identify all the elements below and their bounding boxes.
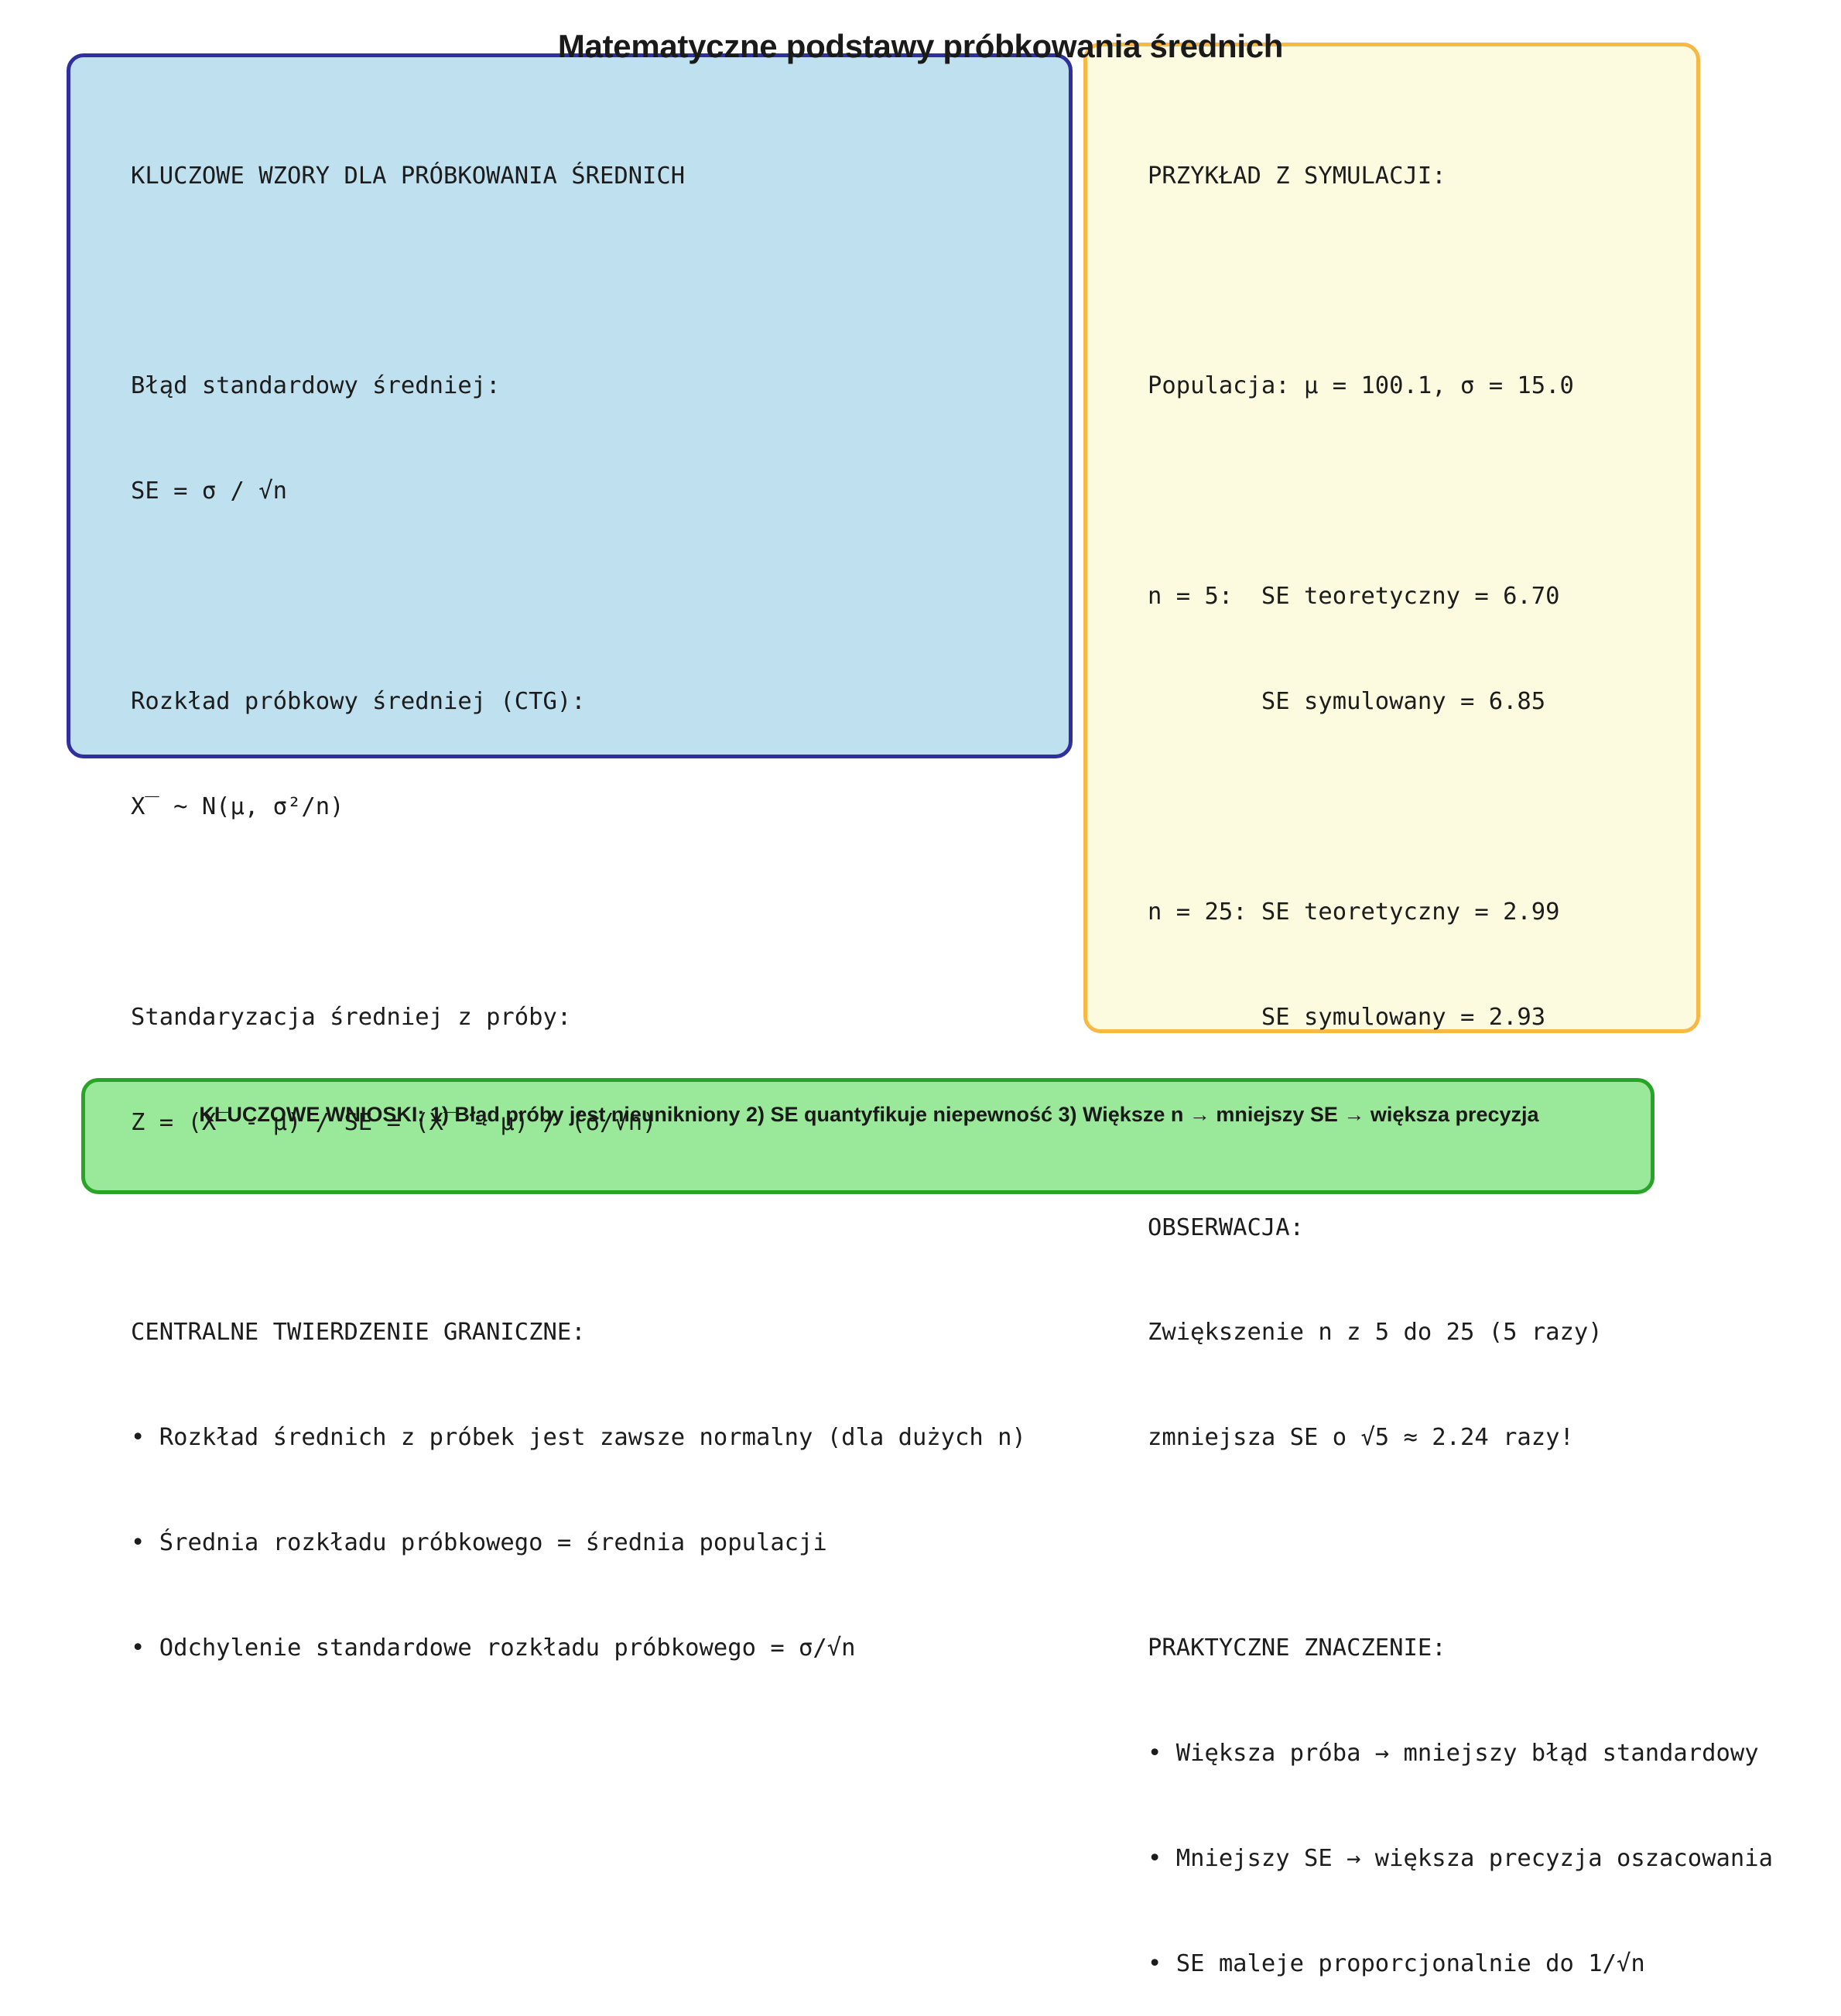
- left-line-10: [131, 1210, 1026, 1245]
- left-line-12: • Rozkład średnich z próbek jest zawsze …: [131, 1420, 1026, 1455]
- right-line-2: Populacja: μ = 100.1, σ = 15.0: [1148, 368, 1773, 403]
- right-line-14: PRAKTYCZNE ZNACZENIE:: [1148, 1631, 1773, 1665]
- left-line-8: Standaryzacja średniej z próby:: [131, 1000, 1026, 1035]
- right-line-7: n = 25: SE teoretyczny = 2.99: [1148, 895, 1773, 929]
- right-line-8: SE symulowany = 2.93: [1148, 1000, 1773, 1035]
- left-line-14: • Odchylenie standardowe rozkładu próbko…: [131, 1631, 1026, 1665]
- right-line-12: zmniejsza SE o √5 ≈ 2.24 razy!: [1148, 1420, 1773, 1455]
- right-line-17: • SE maleje proporcjonalnie do 1/√n: [1148, 1946, 1773, 1981]
- left-line-11: CENTRALNE TWIERDZENIE GRANICZNE:: [131, 1315, 1026, 1350]
- left-line-1: [131, 263, 1026, 298]
- right-line-16: • Mniejszy SE → większa precyzja oszacow…: [1148, 1841, 1773, 1876]
- right-line-3: [1148, 474, 1773, 508]
- right-line-10: OBSERWACJA:: [1148, 1210, 1773, 1245]
- right-line-5: SE symulowany = 6.85: [1148, 684, 1773, 719]
- right-line-13: [1148, 1525, 1773, 1560]
- left-line-7: [131, 895, 1026, 929]
- page-title: Matematyczne podstawy próbkowania średni…: [0, 28, 1841, 65]
- left-line-5: Rozkład próbkowy średniej (CTG):: [131, 684, 1026, 719]
- kluczowe-wzory-text: KLUCZOWE WZORY DLA PRÓBKOWANIA ŚREDNICH …: [131, 88, 1026, 1701]
- right-line-6: [1148, 789, 1773, 824]
- left-line-3: SE = σ / √n: [131, 474, 1026, 508]
- right-line-15: • Większa próba → mniejszy błąd standard…: [1148, 1736, 1773, 1771]
- przyklad-symulacji-text: PRZYKŁAD Z SYMULACJI: Populacja: μ = 100…: [1148, 88, 1773, 2016]
- left-line-0: KLUCZOWE WZORY DLA PRÓBKOWANIA ŚREDNICH: [131, 159, 1026, 193]
- left-line-2: Błąd standardowy średniej:: [131, 368, 1026, 403]
- left-line-13: • Średnia rozkładu próbkowego = średnia …: [131, 1525, 1026, 1560]
- right-line-9: [1148, 1105, 1773, 1140]
- right-line-4: n = 5: SE teoretyczny = 6.70: [1148, 579, 1773, 614]
- right-line-11: Zwiększenie n z 5 do 25 (5 razy): [1148, 1315, 1773, 1350]
- left-line-4: [131, 579, 1026, 614]
- right-line-1: [1148, 263, 1773, 298]
- right-line-0: PRZYKŁAD Z SYMULACJI:: [1148, 159, 1773, 193]
- left-line-6: X‾ ~ N(μ, σ²/n): [131, 789, 1026, 824]
